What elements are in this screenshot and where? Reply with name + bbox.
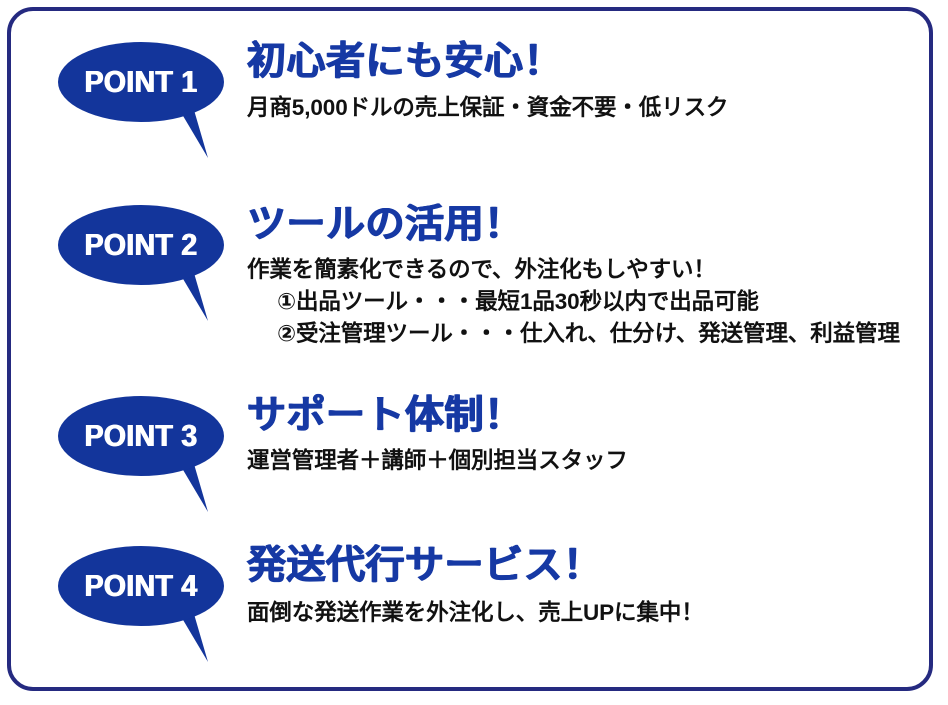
point-badge-bubble: POINT 1 [58, 42, 224, 160]
point-heading: 発送代行サービス！ [247, 546, 937, 585]
point-badge-label: POINT 2 [65, 205, 218, 285]
point-list-graphic: POINT 1 初心者にも安心！ 月商5,000ドルの売上保証・資金不要・低リス… [0, 0, 948, 705]
point-body-line: 月商5,000ドルの売上保証・資金不要・低リスク [247, 92, 937, 124]
point-badge-bubble: POINT 2 [58, 205, 224, 323]
point-heading: 初心者にも安心！ [247, 42, 937, 81]
point-body-block: 月商5,000ドルの売上保証・資金不要・低リスク [247, 92, 937, 124]
point-text-column: ツールの活用！ 作業を簡素化できるので、外注化もしやすい！ ①出品ツール・・・最… [247, 205, 937, 350]
point-text-column: 初心者にも安心！ 月商5,000ドルの売上保証・資金不要・低リスク [247, 42, 937, 124]
point-text-column: 発送代行サービス！ 面倒な発送作業を外注化し、売上UPに集中！ [247, 546, 937, 629]
point-heading: サポート体制！ [247, 396, 937, 435]
point-badge-label: POINT 3 [65, 396, 218, 476]
point-heading: ツールの活用！ [247, 205, 937, 244]
point-body-line: 作業を簡素化できるので、外注化もしやすい！ [247, 254, 937, 286]
point-body-block: 運営管理者＋講師＋個別担当スタッフ [247, 445, 937, 477]
point-body-line: 面倒な発送作業を外注化し、売上UPに集中！ [247, 597, 937, 629]
point-body-line: ①出品ツール・・・最短1品30秒以内で出品可能 [247, 286, 937, 318]
point-badge-bubble: POINT 4 [58, 546, 224, 664]
point-badge-bubble: POINT 3 [58, 396, 224, 514]
point-body-line: ②受注管理ツール・・・仕入れ、仕分け、発送管理、利益管理 [247, 318, 937, 350]
point-badge-label: POINT 4 [65, 546, 218, 626]
point-body-block: 面倒な発送作業を外注化し、売上UPに集中！ [247, 597, 937, 629]
point-body-line: 運営管理者＋講師＋個別担当スタッフ [247, 445, 937, 477]
point-body-block: 作業を簡素化できるので、外注化もしやすい！ ①出品ツール・・・最短1品30秒以内… [247, 254, 937, 350]
point-badge-label: POINT 1 [65, 42, 218, 122]
point-text-column: サポート体制！ 運営管理者＋講師＋個別担当スタッフ [247, 396, 937, 477]
